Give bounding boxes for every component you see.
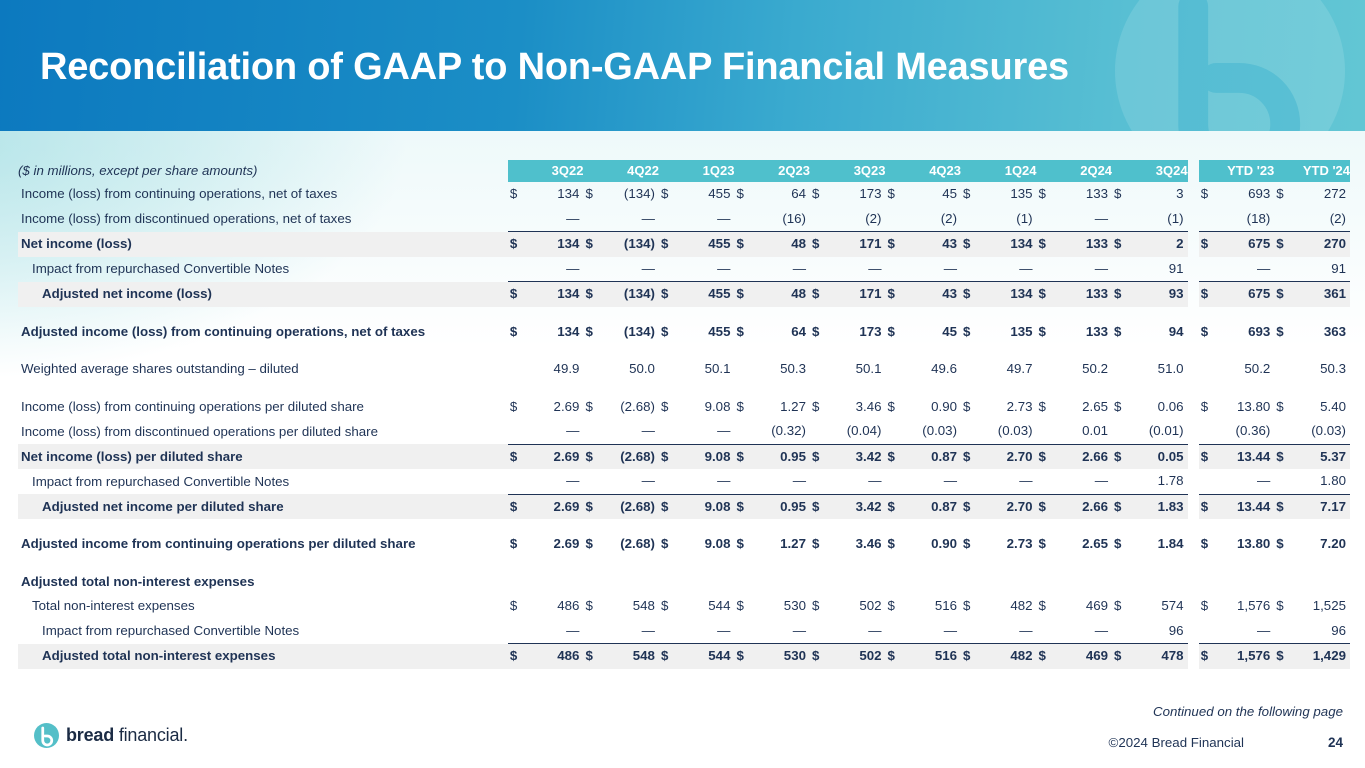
- currency-symbol-2Q23: $: [734, 232, 754, 257]
- currency-symbol-4Q23: $: [886, 395, 906, 420]
- cell-2Q23: 48: [755, 232, 810, 257]
- column-header-2Q23: 2Q23: [755, 160, 810, 182]
- table-row: Impact from repurchased Convertible Note…: [18, 257, 1350, 282]
- currency-symbol-2Q23: [734, 357, 754, 382]
- cell-4Q22: (134): [604, 182, 659, 207]
- cell-4Q23: 516: [906, 594, 961, 619]
- currency-symbol-YTD24: $: [1274, 182, 1294, 207]
- currency-symbol-4Q23: $: [886, 532, 906, 557]
- cell-3Q23: (2): [830, 207, 885, 232]
- slide-header-banner: Reconciliation of GAAP to Non-GAAP Finan…: [0, 0, 1365, 131]
- currency-symbol-1Q23: $: [659, 395, 679, 420]
- cell-3Q22: [528, 570, 583, 595]
- cell-2Q23: 0.95: [755, 444, 810, 469]
- currency-symbol-1Q24: $: [961, 532, 981, 557]
- currency-symbol-4Q22: $: [583, 644, 603, 669]
- currency-symbol-3Q23: [810, 619, 830, 644]
- currency-symbol-YTD24: $: [1274, 232, 1294, 257]
- cell-2Q23: 530: [755, 644, 810, 669]
- cell-2Q24: [1057, 570, 1112, 595]
- continued-note: Continued on the following page: [1153, 704, 1343, 719]
- cell-4Q23: 43: [906, 232, 961, 257]
- cell-YTD24: 96: [1295, 619, 1350, 644]
- table-spacer-row: [18, 519, 1350, 532]
- currency-symbol-1Q24: [961, 469, 981, 494]
- currency-symbol-3Q24: [1112, 619, 1132, 644]
- row-gap: [1188, 619, 1199, 644]
- column-header-spacer-YTD23: [1199, 160, 1219, 182]
- cell-1Q23: 9.08: [679, 532, 734, 557]
- cell-3Q24: (1): [1132, 207, 1187, 232]
- currency-symbol-4Q22: $: [583, 594, 603, 619]
- cell-YTD23: 13.80: [1219, 395, 1274, 420]
- cell-YTD24: 1.80: [1295, 469, 1350, 494]
- currency-symbol-3Q24: $: [1112, 532, 1132, 557]
- cell-4Q23: 45: [906, 182, 961, 207]
- row-gap: [1188, 570, 1199, 595]
- cell-YTD23: 13.80: [1219, 532, 1274, 557]
- currency-symbol-2Q24: $: [1037, 320, 1057, 345]
- currency-symbol-1Q24: [961, 570, 981, 595]
- currency-symbol-1Q24: $: [961, 494, 981, 519]
- currency-symbol-YTD24: [1274, 357, 1294, 382]
- currency-symbol-3Q22: [508, 570, 528, 595]
- column-header-3Q23: 3Q23: [830, 160, 885, 182]
- cell-1Q23: 9.08: [679, 444, 734, 469]
- cell-4Q22: (134): [604, 320, 659, 345]
- cell-3Q22: 134: [528, 232, 583, 257]
- currency-symbol-1Q23: [659, 257, 679, 282]
- cell-1Q24: [981, 570, 1036, 595]
- cell-YTD24: 50.3: [1295, 357, 1350, 382]
- currency-symbol-2Q24: [1037, 257, 1057, 282]
- currency-symbol-4Q22: $: [583, 444, 603, 469]
- cell-3Q24: 574: [1132, 594, 1187, 619]
- currency-symbol-3Q23: [810, 469, 830, 494]
- column-header-1Q24: 1Q24: [981, 160, 1036, 182]
- cell-2Q23: 64: [755, 182, 810, 207]
- currency-symbol-3Q22: $: [508, 644, 528, 669]
- cell-YTD23: 675: [1219, 282, 1274, 307]
- currency-symbol-2Q24: [1037, 357, 1057, 382]
- row-gap: [1188, 257, 1199, 282]
- currency-symbol-3Q22: [508, 257, 528, 282]
- cell-1Q24: 135: [981, 320, 1036, 345]
- cell-4Q22: (2.68): [604, 444, 659, 469]
- row-label: Income (loss) from continuing operations…: [18, 182, 508, 207]
- currency-symbol-1Q24: [961, 257, 981, 282]
- table-spacer-row: [18, 382, 1350, 395]
- currency-symbol-2Q24: $: [1037, 494, 1057, 519]
- reconciliation-table-container: ($ in millions, except per share amounts…: [18, 160, 1350, 669]
- row-gap: [1188, 469, 1199, 494]
- currency-symbol-3Q23: $: [810, 320, 830, 345]
- row-label: Adjusted income from continuing operatio…: [18, 532, 508, 557]
- cell-3Q23: 3.46: [830, 532, 885, 557]
- currency-symbol-2Q24: $: [1037, 232, 1057, 257]
- row-gap: [1188, 494, 1199, 519]
- currency-symbol-3Q22: $: [508, 320, 528, 345]
- currency-symbol-YTD23: [1199, 207, 1219, 232]
- currency-symbol-3Q24: [1112, 570, 1132, 595]
- currency-symbol-2Q24: $: [1037, 644, 1057, 669]
- currency-symbol-4Q23: $: [886, 594, 906, 619]
- cell-2Q24: 133: [1057, 232, 1112, 257]
- cell-2Q23: —: [755, 469, 810, 494]
- currency-symbol-1Q24: $: [961, 395, 981, 420]
- bread-logo-icon: [34, 723, 59, 748]
- currency-symbol-3Q22: [508, 207, 528, 232]
- cell-YTD23: [1219, 570, 1274, 595]
- currency-symbol-2Q23: $: [734, 444, 754, 469]
- cell-YTD23: 693: [1219, 320, 1274, 345]
- currency-symbol-1Q24: [961, 357, 981, 382]
- row-gap: [1188, 444, 1199, 469]
- currency-symbol-YTD24: $: [1274, 320, 1294, 345]
- currency-symbol-YTD24: [1274, 419, 1294, 444]
- cell-3Q22: —: [528, 619, 583, 644]
- currency-symbol-4Q23: [886, 570, 906, 595]
- spacer-cell: [18, 344, 1350, 357]
- column-header-spacer-3Q23: [810, 160, 830, 182]
- currency-symbol-3Q24: $: [1112, 444, 1132, 469]
- currency-symbol-4Q22: $: [583, 395, 603, 420]
- cell-YTD24: 1,525: [1295, 594, 1350, 619]
- cell-3Q22: 2.69: [528, 395, 583, 420]
- cell-YTD23: (18): [1219, 207, 1274, 232]
- cell-1Q23: 50.1: [679, 357, 734, 382]
- currency-symbol-1Q23: $: [659, 282, 679, 307]
- cell-3Q23: [830, 570, 885, 595]
- cell-3Q22: 134: [528, 320, 583, 345]
- row-label: Adjusted total non-interest expenses: [18, 570, 508, 595]
- column-header-3Q24: 3Q24: [1132, 160, 1187, 182]
- currency-symbol-3Q23: [810, 570, 830, 595]
- cell-2Q23: 1.27: [755, 395, 810, 420]
- table-row: Adjusted total non-interest expenses: [18, 570, 1350, 595]
- table-row: Income (loss) from discontinued operatio…: [18, 419, 1350, 444]
- row-label: Net income (loss): [18, 232, 508, 257]
- column-header-spacer-1Q23: [659, 160, 679, 182]
- cell-2Q23: —: [755, 257, 810, 282]
- currency-symbol-1Q23: [659, 207, 679, 232]
- currency-symbol-4Q22: [583, 419, 603, 444]
- cell-4Q23: 0.87: [906, 494, 961, 519]
- cell-2Q23: (16): [755, 207, 810, 232]
- currency-symbol-4Q22: [583, 207, 603, 232]
- currency-symbol-3Q23: [810, 257, 830, 282]
- row-label: Net income (loss) per diluted share: [18, 444, 508, 469]
- currency-symbol-3Q22: $: [508, 182, 528, 207]
- currency-symbol-3Q24: $: [1112, 232, 1132, 257]
- currency-symbol-3Q24: $: [1112, 320, 1132, 345]
- cell-4Q22: (2.68): [604, 532, 659, 557]
- column-header-YTD23: YTD '23: [1219, 160, 1274, 182]
- cell-4Q22: —: [604, 257, 659, 282]
- cell-1Q23: —: [679, 619, 734, 644]
- cell-1Q24: 2.70: [981, 494, 1036, 519]
- cell-4Q22: 50.0: [604, 357, 659, 382]
- row-gap: [1188, 232, 1199, 257]
- currency-symbol-YTD24: [1274, 207, 1294, 232]
- currency-symbol-3Q24: $: [1112, 494, 1132, 519]
- cell-2Q24: 133: [1057, 282, 1112, 307]
- currency-symbol-3Q23: $: [810, 644, 830, 669]
- currency-symbol-2Q23: [734, 207, 754, 232]
- currency-symbol-4Q22: [583, 619, 603, 644]
- currency-symbol-YTD23: $: [1199, 232, 1219, 257]
- cell-3Q23: (0.04): [830, 419, 885, 444]
- currency-symbol-1Q23: [659, 469, 679, 494]
- logo-bread: bread: [66, 725, 114, 745]
- cell-3Q23: 171: [830, 232, 885, 257]
- cell-4Q22: (134): [604, 282, 659, 307]
- cell-1Q23: —: [679, 257, 734, 282]
- currency-symbol-1Q23: $: [659, 320, 679, 345]
- currency-symbol-4Q23: $: [886, 494, 906, 519]
- cell-YTD24: 5.40: [1295, 395, 1350, 420]
- currency-symbol-1Q23: $: [659, 232, 679, 257]
- cell-3Q24: 1.83: [1132, 494, 1187, 519]
- table-row: Income (loss) from continuing operations…: [18, 395, 1350, 420]
- currency-symbol-YTD23: $: [1199, 532, 1219, 557]
- currency-symbol-4Q22: $: [583, 232, 603, 257]
- row-label: Adjusted net income (loss): [18, 282, 508, 307]
- page-title: Reconciliation of GAAP to Non-GAAP Finan…: [40, 46, 1069, 89]
- cell-YTD23: 675: [1219, 232, 1274, 257]
- table-spacer-row: [18, 344, 1350, 357]
- currency-symbol-4Q22: $: [583, 182, 603, 207]
- column-header-2Q24: 2Q24: [1057, 160, 1112, 182]
- logo-wordmark: bread financial.: [66, 725, 188, 746]
- row-label: Weighted average shares outstanding – di…: [18, 357, 508, 382]
- cell-YTD23: 1,576: [1219, 644, 1274, 669]
- cell-YTD24: (0.03): [1295, 419, 1350, 444]
- logo-financial: financial.: [114, 725, 188, 745]
- cell-4Q22: —: [604, 207, 659, 232]
- table-row: Adjusted income from continuing operatio…: [18, 532, 1350, 557]
- row-gap: [1188, 594, 1199, 619]
- table-row: Impact from repurchased Convertible Note…: [18, 469, 1350, 494]
- cell-1Q24: 135: [981, 182, 1036, 207]
- table-row: Impact from repurchased Convertible Note…: [18, 619, 1350, 644]
- cell-1Q24: 2.73: [981, 395, 1036, 420]
- column-header-YTD24: YTD '24: [1295, 160, 1350, 182]
- currency-symbol-YTD23: [1199, 570, 1219, 595]
- currency-symbol-1Q24: $: [961, 282, 981, 307]
- cell-2Q23: 64: [755, 320, 810, 345]
- cell-YTD24: 363: [1295, 320, 1350, 345]
- cell-2Q24: 133: [1057, 320, 1112, 345]
- currency-symbol-3Q24: [1112, 207, 1132, 232]
- currency-symbol-3Q23: [810, 207, 830, 232]
- cell-2Q24: 133: [1057, 182, 1112, 207]
- cell-3Q24: 0.06: [1132, 395, 1187, 420]
- currency-symbol-YTD24: $: [1274, 444, 1294, 469]
- cell-3Q23: 173: [830, 182, 885, 207]
- currency-symbol-YTD23: $: [1199, 282, 1219, 307]
- row-label: Income (loss) from discontinued operatio…: [18, 207, 508, 232]
- reconciliation-table: ($ in millions, except per share amounts…: [18, 160, 1350, 669]
- cell-1Q24: 49.7: [981, 357, 1036, 382]
- table-row: Adjusted net income (loss)$134$(134)$455…: [18, 282, 1350, 307]
- cell-1Q23: —: [679, 207, 734, 232]
- cell-3Q22: 2.69: [528, 494, 583, 519]
- row-label: Impact from repurchased Convertible Note…: [18, 257, 508, 282]
- cell-3Q23: 173: [830, 320, 885, 345]
- cell-1Q23: 9.08: [679, 395, 734, 420]
- currency-symbol-2Q23: $: [734, 320, 754, 345]
- column-header-spacer-YTD24: [1274, 160, 1294, 182]
- currency-symbol-YTD24: $: [1274, 282, 1294, 307]
- cell-3Q24: 3: [1132, 182, 1187, 207]
- currency-symbol-YTD24: $: [1274, 594, 1294, 619]
- currency-symbol-1Q24: $: [961, 182, 981, 207]
- currency-symbol-4Q23: $: [886, 282, 906, 307]
- cell-4Q22: 548: [604, 644, 659, 669]
- cell-YTD23: —: [1219, 469, 1274, 494]
- currency-symbol-3Q22: $: [508, 532, 528, 557]
- currency-symbol-YTD24: [1274, 469, 1294, 494]
- currency-symbol-3Q24: $: [1112, 644, 1132, 669]
- cell-1Q23: —: [679, 469, 734, 494]
- cell-4Q23: —: [906, 257, 961, 282]
- cell-4Q22: (2.68): [604, 395, 659, 420]
- cell-1Q23: 544: [679, 644, 734, 669]
- cell-1Q23: 455: [679, 282, 734, 307]
- currency-symbol-3Q23: $: [810, 594, 830, 619]
- currency-symbol-3Q22: [508, 469, 528, 494]
- cell-3Q24: 96: [1132, 619, 1187, 644]
- cell-YTD24: 91: [1295, 257, 1350, 282]
- cell-YTD24: (2): [1295, 207, 1350, 232]
- cell-2Q24: —: [1057, 469, 1112, 494]
- cell-YTD23: 13.44: [1219, 494, 1274, 519]
- cell-3Q22: 2.69: [528, 444, 583, 469]
- copyright-text: ©2024 Bread Financial: [1109, 735, 1244, 750]
- cell-1Q23: —: [679, 419, 734, 444]
- currency-symbol-YTD23: $: [1199, 494, 1219, 519]
- currency-symbol-2Q23: $: [734, 182, 754, 207]
- table-row: Adjusted net income per diluted share$2.…: [18, 494, 1350, 519]
- cell-3Q24: [1132, 570, 1187, 595]
- cell-4Q23: 49.6: [906, 357, 961, 382]
- cell-2Q23: 1.27: [755, 532, 810, 557]
- row-gap: [1188, 395, 1199, 420]
- currency-symbol-YTD24: [1274, 619, 1294, 644]
- column-header-spacer-3Q24: [1112, 160, 1132, 182]
- currency-symbol-3Q23: [810, 419, 830, 444]
- currency-symbol-1Q24: [961, 207, 981, 232]
- currency-symbol-3Q23: $: [810, 395, 830, 420]
- cell-2Q24: 2.66: [1057, 444, 1112, 469]
- column-header-spacer-3Q22: [508, 160, 528, 182]
- cell-2Q23: 530: [755, 594, 810, 619]
- column-header-1Q23: 1Q23: [679, 160, 734, 182]
- row-gap: [1188, 644, 1199, 669]
- currency-symbol-4Q23: $: [886, 444, 906, 469]
- currency-symbol-2Q23: $: [734, 395, 754, 420]
- cell-3Q23: 3.42: [830, 444, 885, 469]
- currency-symbol-4Q23: [886, 469, 906, 494]
- currency-symbol-3Q23: $: [810, 494, 830, 519]
- cell-3Q22: 49.9: [528, 357, 583, 382]
- currency-symbol-2Q24: [1037, 469, 1057, 494]
- cell-4Q23: [906, 570, 961, 595]
- currency-symbol-YTD23: [1199, 419, 1219, 444]
- cell-1Q23: [679, 570, 734, 595]
- currency-symbol-4Q22: [583, 570, 603, 595]
- cell-YTD23: —: [1219, 257, 1274, 282]
- cell-3Q22: —: [528, 207, 583, 232]
- currency-symbol-3Q23: [810, 357, 830, 382]
- cell-1Q24: 482: [981, 594, 1036, 619]
- cell-3Q23: 171: [830, 282, 885, 307]
- cell-3Q22: 486: [528, 644, 583, 669]
- row-gap: [1188, 419, 1199, 444]
- currency-symbol-3Q22: $: [508, 232, 528, 257]
- currency-symbol-YTD24: [1274, 570, 1294, 595]
- currency-symbol-3Q22: $: [508, 594, 528, 619]
- cell-2Q24: 2.65: [1057, 532, 1112, 557]
- currency-symbol-3Q24: $: [1112, 182, 1132, 207]
- cell-4Q22: [604, 570, 659, 595]
- currency-symbol-YTD23: $: [1199, 644, 1219, 669]
- cell-4Q23: 43: [906, 282, 961, 307]
- cell-1Q23: 455: [679, 232, 734, 257]
- currency-symbol-1Q23: $: [659, 494, 679, 519]
- table-row: Net income (loss) per diluted share$2.69…: [18, 444, 1350, 469]
- row-label: Income (loss) from discontinued operatio…: [18, 419, 508, 444]
- cell-YTD24: 7.20: [1295, 532, 1350, 557]
- table-row: Adjusted income (loss) from continuing o…: [18, 320, 1350, 345]
- cell-3Q23: 502: [830, 644, 885, 669]
- currency-symbol-3Q22: $: [508, 444, 528, 469]
- cell-1Q23: 9.08: [679, 494, 734, 519]
- cell-4Q23: (0.03): [906, 419, 961, 444]
- currency-symbol-1Q23: $: [659, 532, 679, 557]
- cell-1Q23: 455: [679, 182, 734, 207]
- currency-symbol-1Q23: [659, 570, 679, 595]
- row-label: Impact from repurchased Convertible Note…: [18, 469, 508, 494]
- cell-3Q23: —: [830, 257, 885, 282]
- currency-symbol-1Q23: $: [659, 444, 679, 469]
- cell-3Q22: —: [528, 469, 583, 494]
- currency-symbol-2Q23: $: [734, 282, 754, 307]
- column-header-spacer-4Q23: [886, 160, 906, 182]
- currency-symbol-1Q24: $: [961, 320, 981, 345]
- currency-symbol-3Q24: [1112, 419, 1132, 444]
- cell-3Q22: 134: [528, 282, 583, 307]
- cell-3Q23: —: [830, 469, 885, 494]
- currency-symbol-2Q23: $: [734, 644, 754, 669]
- column-header-spacer-2Q23: [734, 160, 754, 182]
- currency-symbol-1Q24: $: [961, 232, 981, 257]
- cell-2Q23: —: [755, 619, 810, 644]
- cell-1Q24: 134: [981, 282, 1036, 307]
- currency-symbol-4Q22: $: [583, 494, 603, 519]
- currency-symbol-3Q22: [508, 619, 528, 644]
- column-header-spacer-1Q24: [961, 160, 981, 182]
- cell-1Q23: 455: [679, 320, 734, 345]
- currency-symbol-2Q24: $: [1037, 532, 1057, 557]
- currency-symbol-3Q23: $: [810, 444, 830, 469]
- currency-symbol-2Q24: $: [1037, 282, 1057, 307]
- cell-1Q24: —: [981, 619, 1036, 644]
- table-spacer-row: [18, 557, 1350, 570]
- cell-3Q24: 2: [1132, 232, 1187, 257]
- cell-3Q24: (0.01): [1132, 419, 1187, 444]
